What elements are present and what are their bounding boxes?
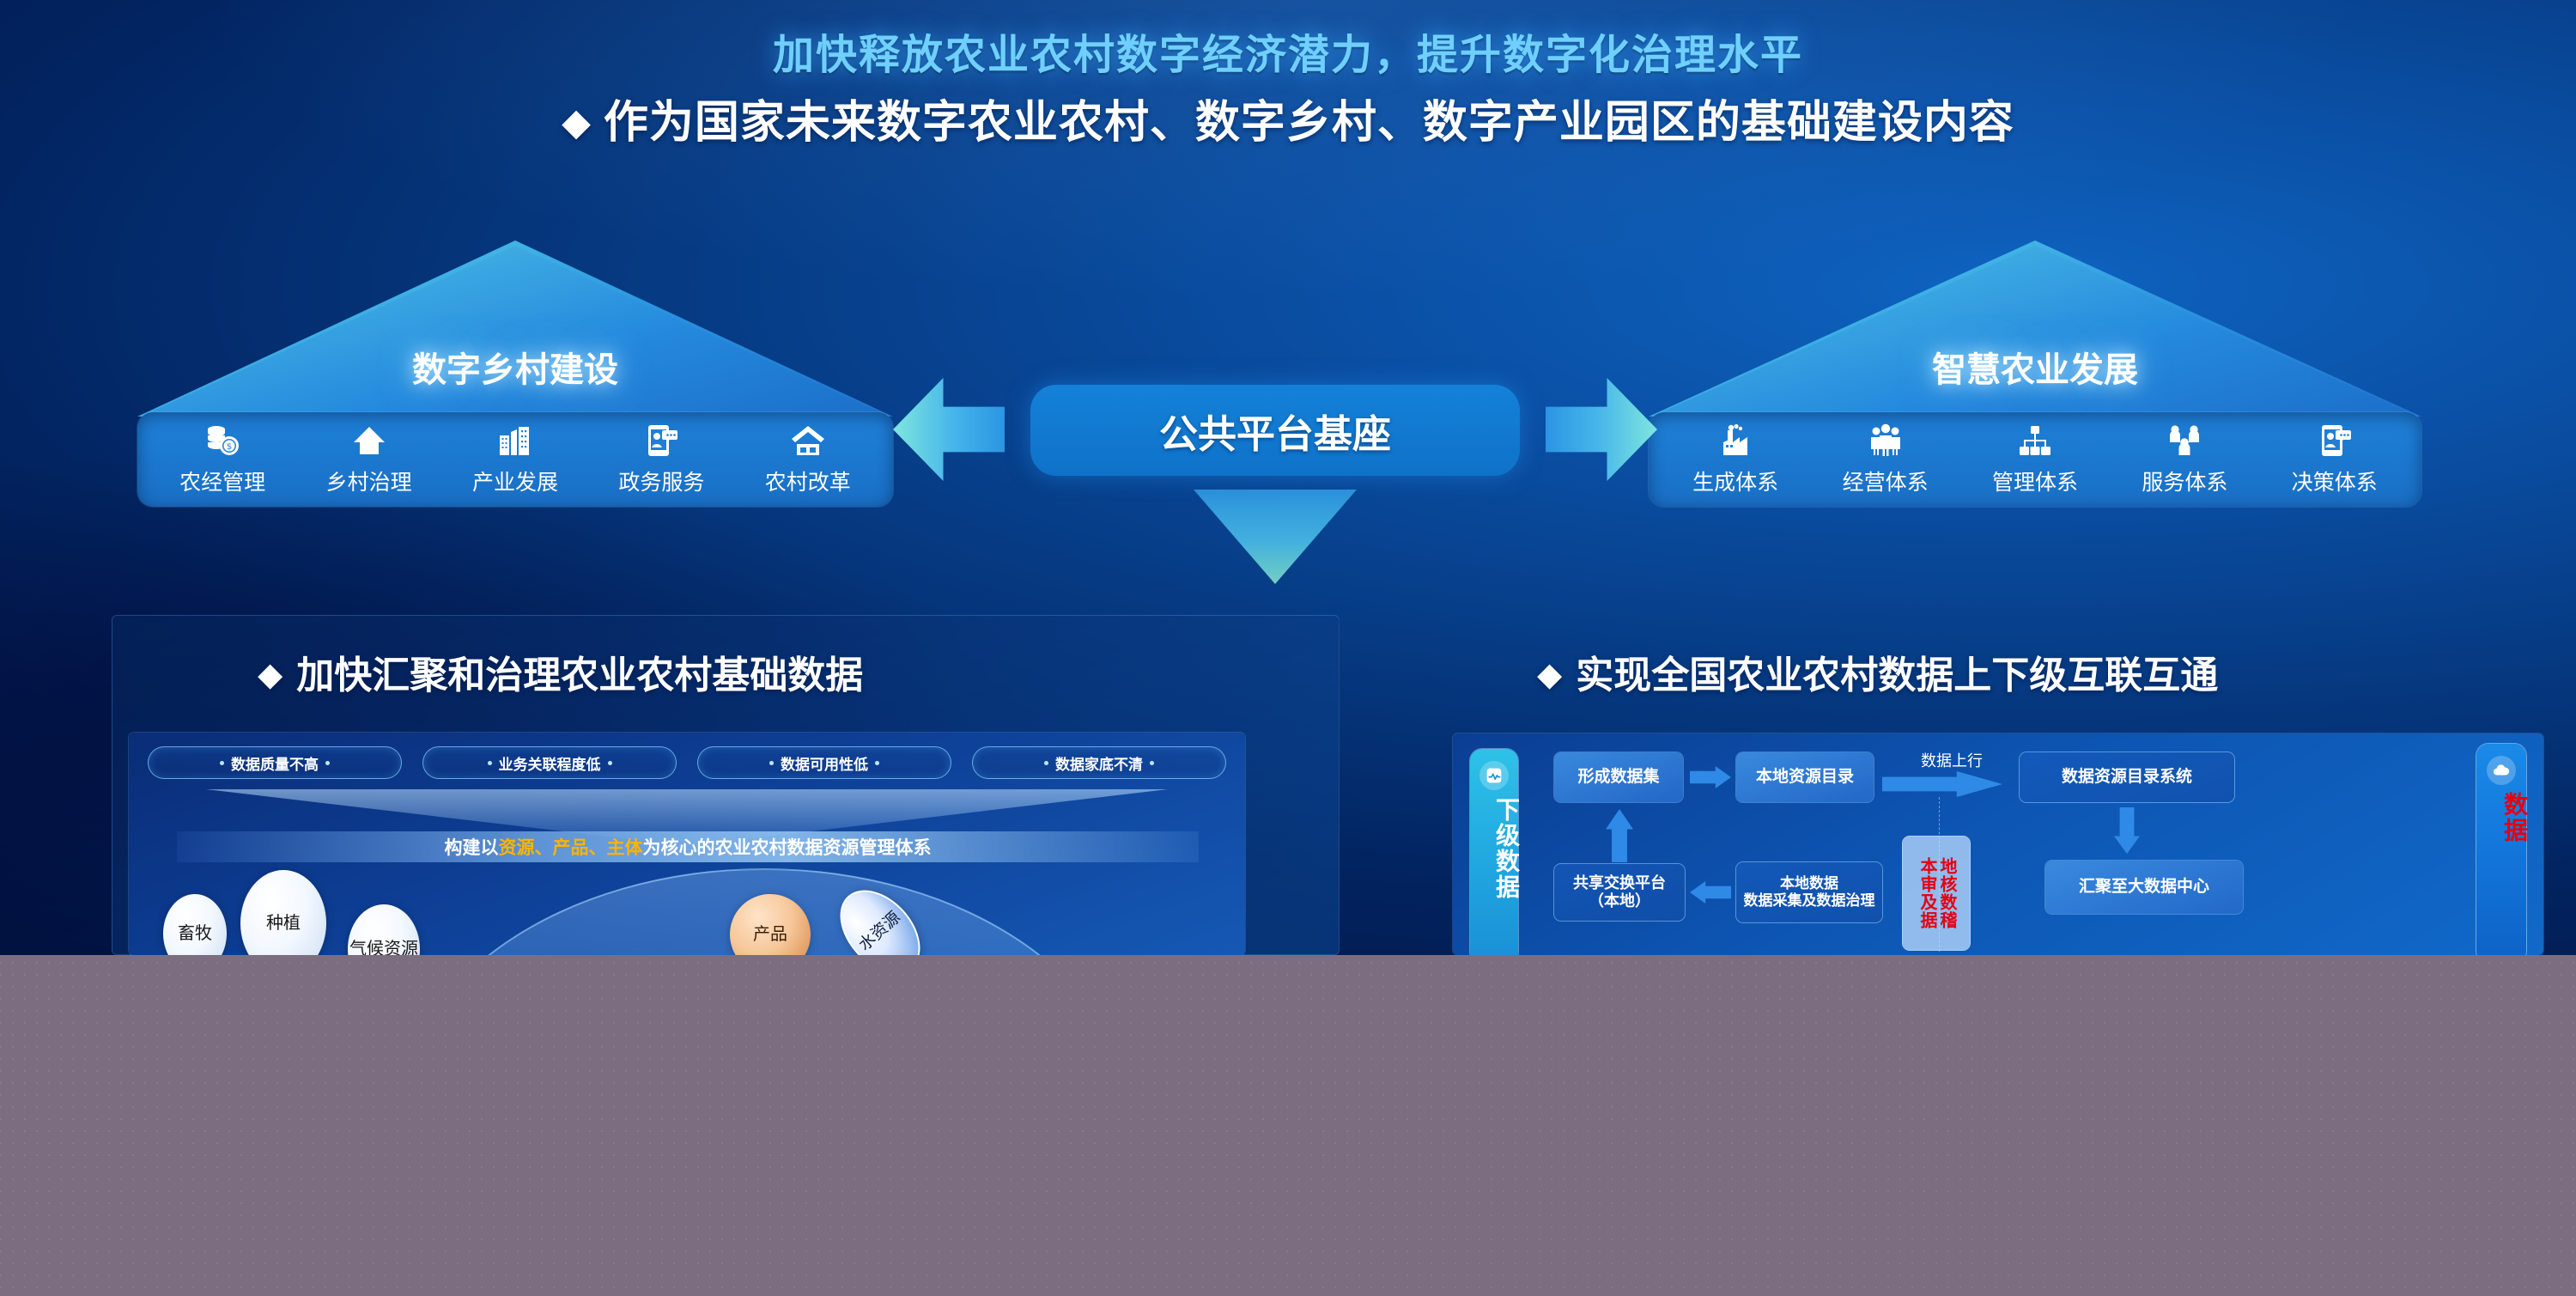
bullet-dot-icon <box>769 761 774 765</box>
bullet-dot-icon <box>1044 761 1048 765</box>
pyramid-item-rural-governance[interactable]: 乡村治理 <box>317 419 422 496</box>
bubble-planting[interactable]: 种植 <box>240 870 326 955</box>
pyramid-item-government-service[interactable]: 政务服务 <box>609 419 714 496</box>
right-pyramid: 智慧农业发展 生成体系 经营体系 管理体系 <box>1649 240 2421 515</box>
issue-pill-label: 数据可用性低 <box>781 752 868 774</box>
pyramid-item-decision-system[interactable]: 决策体系 <box>2282 419 2387 496</box>
right-section-heading-text: 实现全国农业农村数据上下级互联互通 <box>1576 654 2218 697</box>
arrow-right-icon <box>1546 378 1657 481</box>
page-subtitle-text: 作为国家未来数字农业农村、数字乡村、数字产业园区的基础建设内容 <box>604 98 2014 148</box>
page-title: 加快释放农业农村数字经济潜力，提升数字化治理水平 <box>0 21 2576 81</box>
flow-node-label: 共享交换平台 （本地） <box>1573 874 1666 910</box>
flow-node-local-catalog[interactable]: 本地资源目录 <box>1736 752 1874 802</box>
flow-direction-label: 数据上行 <box>1921 749 1983 771</box>
coins-money-icon: $ <box>204 419 241 462</box>
flow-node-dataset[interactable]: 形成数据集 <box>1554 752 1683 802</box>
local-audit-note: 本审及据 地核数稽 <box>1903 837 1970 950</box>
right-pyramid-items: 生成体系 经营体系 管理体系 服务体系 <box>1649 419 2421 508</box>
pyramid-item-label: 服务体系 <box>2142 465 2227 496</box>
flow-node-label: 数据资源目录系统 <box>2062 768 2192 787</box>
bubble-livestock[interactable]: 畜牧 <box>163 894 227 955</box>
pyramid-item-label: 农村改革 <box>765 465 851 496</box>
data-center-rail[interactable]: 数据 <box>2476 744 2526 955</box>
pyramid-item-label: 生成体系 <box>1692 465 1778 496</box>
diamond-bullet-icon: ◆ <box>1537 657 1562 693</box>
bullet-dot-icon <box>488 761 492 765</box>
flow-node-exchange-platform[interactable]: 共享交换平台 （本地） <box>1554 864 1685 921</box>
flow-arrow-left-icon <box>1690 881 1731 904</box>
page-subtitle: ◆作为国家未来数字农业农村、数字乡村、数字产业园区的基础建设内容 <box>0 86 2576 150</box>
pyramid-item-agri-economy[interactable]: $ 农经管理 <box>170 419 275 496</box>
bullet-dot-icon <box>875 761 879 765</box>
lower-level-data-rail[interactable]: 下级数据 <box>1470 749 1518 955</box>
data-system-banner: 构建以资源、产品、主体为核心的农业农村数据资源管理体系 <box>177 831 1199 862</box>
three-people-icon <box>2166 419 2203 462</box>
bullet-dot-icon <box>1150 761 1154 765</box>
flow-arrow-up-icon <box>1606 809 1633 862</box>
org-chart-icon <box>2016 419 2054 462</box>
pyramid-item-label: 政务服务 <box>618 465 704 496</box>
issue-pill-label: 业务关联程度低 <box>499 752 601 774</box>
arrow-down-icon <box>1194 490 1357 584</box>
diamond-bullet-icon: ◆ <box>258 657 283 693</box>
cloud-icon <box>2487 756 2516 785</box>
mobile-service-icon <box>642 419 680 462</box>
pyramid-item-label: 管理体系 <box>1992 465 2078 496</box>
pyramid-item-rural-reform[interactable]: 农村改革 <box>756 419 860 496</box>
bubble-label: 种植 <box>266 914 301 933</box>
pyramid-item-label: 决策体系 <box>2292 465 2378 496</box>
pyramid-item-service-system[interactable]: 服务体系 <box>2132 419 2237 496</box>
banner-prefix: 构建以 <box>445 834 499 860</box>
presentation-slide: 加快释放农业农村数字经济潜力，提升数字化治理水平 ◆作为国家未来数字农业农村、数… <box>0 0 2576 955</box>
local-audit-note-col-right: 本审及据 <box>1917 857 1935 929</box>
bubble-climate-resource[interactable]: 气候资源 <box>348 904 420 955</box>
issue-pill-label: 数据质量不高 <box>231 752 319 774</box>
flow-node-bigdata-center[interactable]: 汇聚至大数据中心 <box>2045 861 2243 914</box>
pyramid-item-production-system[interactable]: 生成体系 <box>1683 419 1788 496</box>
house-icon <box>350 419 388 462</box>
flow-node-catalog-system[interactable]: 数据资源目录系统 <box>2020 752 2234 802</box>
farmhouse-icon <box>789 419 827 462</box>
people-group-icon <box>1867 419 1905 462</box>
mobile-service-icon <box>2316 419 2354 462</box>
pyramid-item-operation-system[interactable]: 经营体系 <box>1833 419 1938 496</box>
banner-suffix: 为核心的农业农村数据资源管理体系 <box>643 834 932 860</box>
flow-node-label: 汇聚至大数据中心 <box>2079 878 2209 897</box>
issue-pill[interactable]: 数据质量不高 <box>148 746 402 779</box>
local-audit-note-col-left: 地核数稽 <box>1937 857 1955 929</box>
buildings-icon <box>496 419 534 462</box>
rail-label: 下级数据 <box>1470 797 1518 900</box>
flow-node-local-collect-govern[interactable]: 本地数据 数据采集及数据治理 <box>1736 862 1882 922</box>
flow-arrow-right-icon <box>1690 766 1731 788</box>
issue-pill-list: 数据质量不高 业务关联程度低 数据可用性低 数据家底不清 <box>148 746 1226 779</box>
left-pyramid-title: 数字乡村建设 <box>137 342 893 392</box>
left-pyramid: 数字乡村建设 $ 农经管理 乡村治理 产业发展 <box>137 240 893 515</box>
bubble-label: 气候资源 <box>349 940 418 955</box>
flow-node-label: 形成数据集 <box>1577 768 1659 787</box>
factory-icon <box>1716 419 1754 462</box>
left-data-card: 数据质量不高 业务关联程度低 数据可用性低 数据家底不清 构建以资源、产品、主体… <box>129 733 1245 955</box>
issue-pill-label: 数据家底不清 <box>1055 752 1143 774</box>
issue-pill[interactable]: 数据可用性低 <box>697 746 951 779</box>
rail-label: 数据 <box>2476 792 2526 843</box>
left-section-heading: ◆加快汇聚和治理农业农村基础数据 <box>258 644 863 699</box>
pyramid-item-label: 乡村治理 <box>326 465 412 496</box>
pyramid-item-industry-development[interactable]: 产业发展 <box>463 419 568 496</box>
pyramid-item-management-system[interactable]: 管理体系 <box>1983 419 2087 496</box>
bullet-dot-icon <box>608 761 612 765</box>
banner-highlight: 资源、产品、主体 <box>499 834 643 860</box>
bubble-label: 畜牧 <box>178 924 212 943</box>
bullet-dot-icon <box>325 761 330 765</box>
diamond-bullet-icon: ◆ <box>562 101 592 143</box>
svg-text:$: $ <box>227 442 232 452</box>
issue-pill[interactable]: 业务关联程度低 <box>422 746 677 779</box>
arrow-left-icon <box>893 378 1005 481</box>
flow-arrow-right-long-icon <box>1882 771 2002 797</box>
pyramid-item-label: 经营体系 <box>1843 465 1929 496</box>
flow-arrow-down-icon <box>2114 807 2140 854</box>
left-section-heading-text: 加快汇聚和治理农业农村基础数据 <box>296 654 863 697</box>
bubble-label: 水资源 <box>856 909 904 955</box>
right-section-heading: ◆实现全国农业农村数据上下级互联互通 <box>1537 644 2218 699</box>
right-pyramid-title: 智慧农业发展 <box>1649 342 2421 392</box>
right-flow-panel: 下级数据 形成数据集 本地资源目录 数据上行 数据资源目录系统 汇聚至大数据中心… <box>1453 733 2543 955</box>
flow-node-label: 本地数据 数据采集及数据治理 <box>1744 875 1875 909</box>
issue-pill[interactable]: 数据家底不清 <box>972 746 1226 779</box>
pyramid-item-label: 产业发展 <box>472 465 558 496</box>
left-pyramid-items: $ 农经管理 乡村治理 产业发展 政务服务 <box>137 419 893 508</box>
flow-node-label: 本地资源目录 <box>1756 768 1854 787</box>
bubble-label: 产品 <box>753 925 787 944</box>
bullet-dot-icon <box>220 761 224 765</box>
pyramid-item-label: 农经管理 <box>179 465 265 496</box>
platform-base-badge[interactable]: 公共平台基座 <box>1030 385 1520 476</box>
chart-pulse-icon <box>1479 761 1509 790</box>
